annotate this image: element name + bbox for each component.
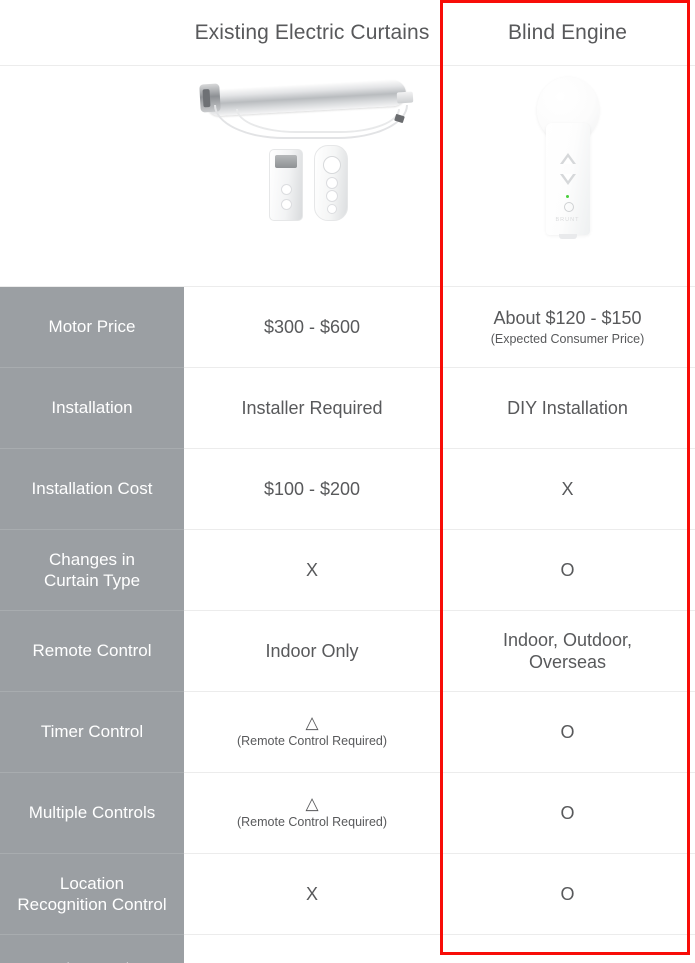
- comparison-table: Existing Electric Curtains Blind Engine: [0, 0, 695, 963]
- down-triangle-icon: [560, 174, 576, 185]
- remote-small-button-3-icon: [327, 204, 337, 214]
- table-row: Installation Cost$100 - $200X: [0, 449, 695, 530]
- cell-existing-curtains: △(Remote Control Required): [184, 692, 440, 773]
- cell-existing-value: $100 - $200: [192, 478, 432, 501]
- cell-blind-engine: O: [440, 692, 695, 773]
- table-row: LocationRecognition ControlXO: [0, 854, 695, 935]
- status-led-icon: [566, 195, 569, 198]
- cell-existing-value: X: [192, 559, 432, 582]
- cell-blind-engine-value: Indoor, Outdoor,Overseas: [448, 629, 687, 674]
- brunt-brand-mark: BRUNT: [440, 217, 695, 223]
- round-button-icon: [564, 202, 574, 212]
- cell-existing-curtains: Indoor Only: [184, 611, 440, 692]
- cell-existing-curtains: $300 - $600: [184, 287, 440, 368]
- remote-button-1-icon: [281, 184, 292, 195]
- cell-blind-engine-value: O: [448, 802, 687, 825]
- up-triangle-icon: [560, 153, 576, 164]
- header-row: Existing Electric Curtains Blind Engine: [0, 0, 695, 66]
- table-row: Remote ControlIndoor OnlyIndoor, Outdoor…: [0, 611, 695, 692]
- comparison-table-page: Existing Electric Curtains Blind Engine: [0, 0, 695, 963]
- remote-screen-icon: [275, 155, 297, 168]
- cell-blind-engine-value: O: [448, 559, 687, 582]
- header-label-blank: [0, 0, 184, 66]
- existing-curtain-motor-illustration: [184, 71, 440, 281]
- cell-existing-value: $300 - $600: [192, 316, 432, 339]
- product-image-blind-engine: BRUNT: [440, 66, 695, 287]
- cell-blind-engine: ServiceWill Support After Launch: [440, 935, 695, 963]
- table-row: Motor Price$300 - $600About $120 - $150(…: [0, 287, 695, 368]
- cell-blind-engine-value: DIY Installation: [448, 397, 687, 420]
- cell-blind-engine: About $120 - $150(Expected Consumer Pric…: [440, 287, 695, 368]
- header-blind-engine: Blind Engine: [440, 0, 695, 66]
- cell-blind-engine: DIY Installation: [440, 368, 695, 449]
- cell-blind-engine: X: [440, 449, 695, 530]
- remote-main-button-icon: [323, 156, 341, 174]
- table-row: Changes inCurtain TypeXO: [0, 530, 695, 611]
- cell-blind-engine: O: [440, 530, 695, 611]
- product-image-row: BRUNT: [0, 66, 695, 287]
- remote-button-2-icon: [281, 199, 292, 210]
- cell-existing-curtains: Installer Required: [184, 368, 440, 449]
- remote-small-button-1-icon: [326, 177, 338, 189]
- cell-existing-subnote: (Remote Control Required): [192, 814, 432, 830]
- cell-existing-curtains: $100 - $200: [184, 449, 440, 530]
- cell-existing-curtains: △(Remote Control Required): [184, 773, 440, 854]
- table-row: Voice Control,Weather Info. Connectionan…: [0, 935, 695, 963]
- product-image-existing-curtains: [184, 66, 440, 287]
- row-label: Remote Control: [0, 611, 184, 692]
- table-row: InstallationInstaller RequiredDIY Instal…: [0, 368, 695, 449]
- row-label: LocationRecognition Control: [0, 854, 184, 935]
- row-label: Multiple Controls: [0, 773, 184, 854]
- remote-oval-icon: [314, 145, 348, 221]
- row-label: Timer Control: [0, 692, 184, 773]
- cell-blind-engine: O: [440, 854, 695, 935]
- cell-existing-curtains: X: [184, 935, 440, 963]
- cell-existing-value: △: [192, 795, 432, 813]
- cell-blind-engine-value: O: [448, 883, 687, 906]
- remote-small-button-2-icon: [326, 190, 338, 202]
- cell-existing-value: X: [192, 883, 432, 906]
- motor-tip-icon: [397, 92, 414, 104]
- cell-blind-engine: O: [440, 773, 695, 854]
- blind-engine-illustration: BRUNT: [440, 71, 695, 281]
- cell-blind-engine-subnote: (Expected Consumer Price): [448, 331, 687, 347]
- cell-existing-value: Indoor Only: [192, 640, 432, 663]
- table-body: Motor Price$300 - $600About $120 - $150(…: [0, 287, 695, 963]
- cell-existing-value: Installer Required: [192, 397, 432, 420]
- table-row: Timer Control△(Remote Control Required)O: [0, 692, 695, 773]
- row-label: Voice Control,Weather Info. Connectionan…: [0, 935, 184, 963]
- row-label: Installation Cost: [0, 449, 184, 530]
- row-label: Installation: [0, 368, 184, 449]
- row-label: Changes inCurtain Type: [0, 530, 184, 611]
- cell-blind-engine-value: About $120 - $150: [448, 307, 687, 330]
- table-header: Existing Electric Curtains Blind Engine: [0, 0, 695, 287]
- cell-existing-subnote: (Remote Control Required): [192, 733, 432, 749]
- cell-blind-engine-value: O: [448, 721, 687, 744]
- remote-with-screen-icon: [269, 149, 303, 221]
- table-row: Multiple Controls△(Remote Control Requir…: [0, 773, 695, 854]
- cell-blind-engine: Indoor, Outdoor,Overseas: [440, 611, 695, 692]
- row-label: Motor Price: [0, 287, 184, 368]
- cell-blind-engine-value: X: [448, 478, 687, 501]
- cell-existing-value: △: [192, 714, 432, 732]
- image-label-blank: [0, 66, 184, 287]
- blind-engine-foot-icon: [559, 234, 577, 239]
- cell-existing-curtains: X: [184, 854, 440, 935]
- header-existing-electric-curtains: Existing Electric Curtains: [184, 0, 440, 66]
- cell-existing-curtains: X: [184, 530, 440, 611]
